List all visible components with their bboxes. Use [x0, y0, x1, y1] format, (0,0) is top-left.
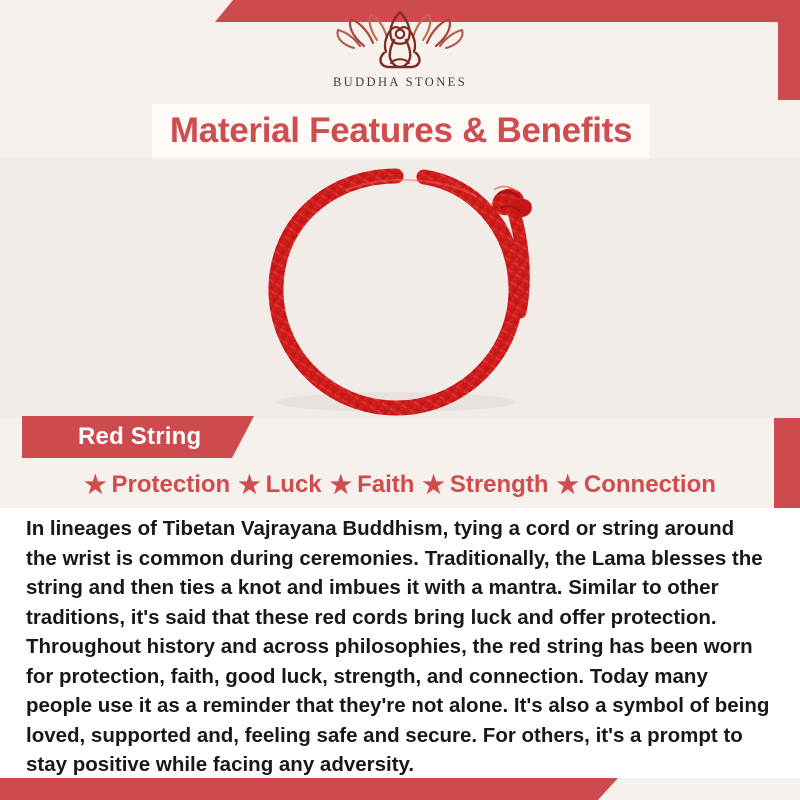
- brand-wordmark: BUDDHA STONES: [333, 75, 467, 90]
- benefit-faith: ★ Faith: [330, 471, 415, 499]
- benefit-label: Faith: [357, 471, 414, 499]
- product-label-text: Red String: [22, 423, 201, 451]
- benefit-label: Connection: [584, 471, 716, 499]
- lotus-meditation-figure-icon: [334, 8, 466, 74]
- product-photo-area: [0, 158, 800, 418]
- benefit-connection: ★ Connection: [556, 471, 715, 499]
- description-block: In lineages of Tibetan Vajrayana Buddhis…: [0, 508, 800, 778]
- star-icon: ★: [556, 473, 578, 498]
- benefit-strength: ★ Strength: [422, 471, 548, 499]
- red-braided-string-bracelet-image: [236, 162, 566, 420]
- title-banner: Material Features & Benefits: [152, 104, 650, 158]
- benefit-label: Strength: [450, 471, 549, 499]
- benefit-luck: ★ Luck: [238, 471, 321, 499]
- brand-header: BUDDHA STONES: [0, 0, 800, 104]
- benefit-protection: ★ Protection: [84, 471, 230, 499]
- star-icon: ★: [84, 473, 106, 498]
- page-title: Material Features & Benefits: [170, 111, 632, 151]
- description-paragraph: In lineages of Tibetan Vajrayana Buddhis…: [26, 514, 770, 780]
- benefit-label: Protection: [112, 471, 231, 499]
- benefit-label: Luck: [266, 471, 322, 499]
- star-icon: ★: [238, 473, 260, 498]
- infographic-page: BUDDHA STONES Material Features & Benefi…: [0, 0, 800, 800]
- product-label-banner: Red String: [22, 416, 254, 458]
- benefits-row: ★ Protection ★ Luck ★ Faith ★ Strength ★…: [0, 464, 800, 506]
- star-icon: ★: [422, 473, 444, 498]
- bottom-accent-band: [0, 778, 618, 800]
- star-icon: ★: [330, 473, 352, 498]
